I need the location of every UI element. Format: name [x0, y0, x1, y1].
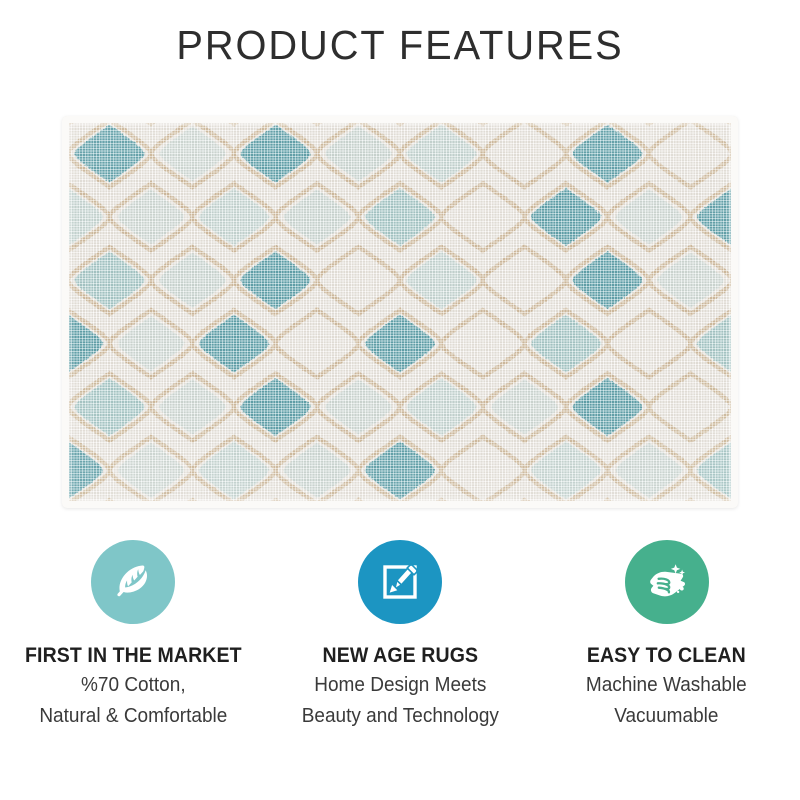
page-title: PRODUCT FEATURES [12, 22, 788, 69]
rug-photograph [62, 116, 738, 508]
product-image-wrapper [62, 116, 738, 508]
design-pen-brush-icon [374, 556, 426, 608]
rug-pattern-field [68, 122, 732, 502]
design-pen-brush-icon-circle[interactable] [358, 540, 442, 624]
feature-text-block: FIRST IN THE MARKET %70 Cotton, Natural … [0, 644, 267, 730]
feature-title: EASY TO CLEAN [543, 644, 791, 668]
cleaning-hand-sparkle-icon-circle[interactable] [625, 540, 709, 624]
feature-title: FIRST IN THE MARKET [9, 644, 257, 668]
feature-new-age-rugs[interactable]: NEW AGE RUGS Home Design Meets Beauty an… [267, 540, 534, 730]
feature-line-1: %70 Cotton, [7, 672, 260, 699]
feather-icon [107, 556, 159, 608]
feature-title: NEW AGE RUGS [276, 644, 524, 668]
cleaning-hand-sparkle-icon [640, 555, 694, 609]
feature-line-1: Machine Washable [540, 672, 793, 699]
feather-icon-circle[interactable] [91, 540, 175, 624]
feature-first-in-the-market[interactable]: FIRST IN THE MARKET %70 Cotton, Natural … [0, 540, 267, 730]
feature-line-2: Vacuumable [540, 703, 793, 730]
feature-line-1: Home Design Meets [273, 672, 526, 699]
feature-text-block: NEW AGE RUGS Home Design Meets Beauty an… [267, 644, 534, 730]
feature-line-2: Natural & Comfortable [7, 703, 260, 730]
rug-pattern-svg [68, 122, 732, 502]
product-features-page: PRODUCT FEATURES [0, 0, 800, 800]
feature-line-2: Beauty and Technology [273, 703, 526, 730]
feature-easy-to-clean[interactable]: EASY TO CLEAN Machine Washable Vacuumabl… [533, 540, 800, 730]
feature-text-block: EASY TO CLEAN Machine Washable Vacuumabl… [533, 644, 800, 730]
features-row: FIRST IN THE MARKET %70 Cotton, Natural … [0, 540, 800, 730]
